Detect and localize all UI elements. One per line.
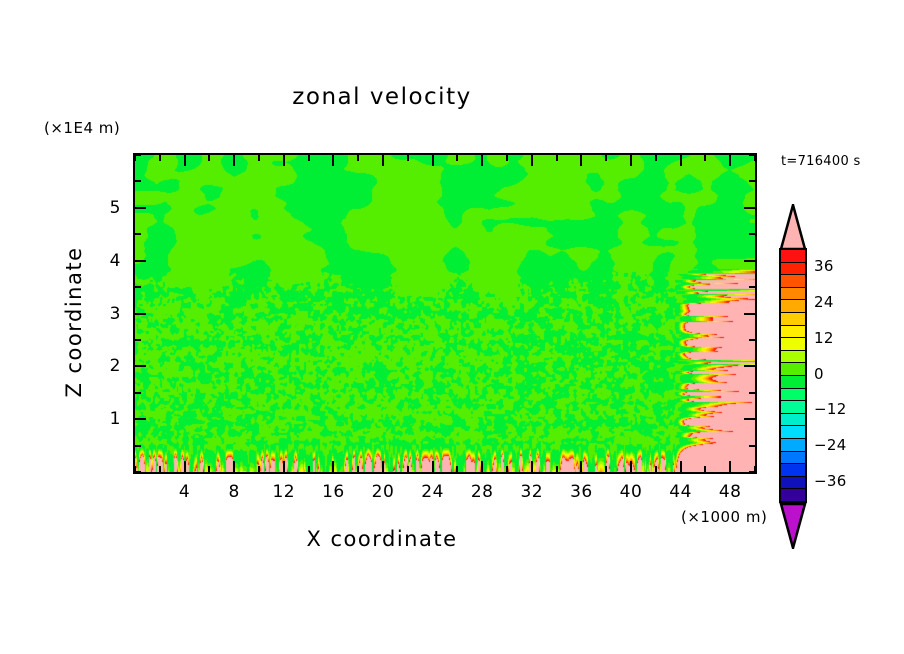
colorbar-band-4 bbox=[781, 300, 805, 313]
y-axis-minor-tick bbox=[135, 154, 141, 156]
y-axis-tick-label-2: 3 bbox=[91, 304, 121, 324]
x-axis-minor-tick bbox=[556, 466, 558, 472]
x-axis-major-tick bbox=[630, 155, 632, 166]
x-axis-minor-tick bbox=[159, 466, 161, 472]
x-axis-tick-label-3: 16 bbox=[313, 482, 353, 502]
x-axis-major-tick bbox=[283, 461, 285, 472]
x-axis-minor-tick bbox=[308, 466, 310, 472]
x-axis-major-tick bbox=[332, 461, 334, 472]
x-axis-major-tick bbox=[233, 461, 235, 472]
colorbar-band-11 bbox=[781, 389, 805, 402]
x-axis-major-tick bbox=[729, 461, 731, 472]
colorbar-label-6: −36 bbox=[814, 472, 847, 490]
colorbar-band-6 bbox=[781, 326, 805, 339]
x-axis-minor-tick bbox=[407, 466, 409, 472]
x-axis-minor-tick bbox=[258, 466, 260, 472]
y-axis-minor-tick bbox=[135, 392, 141, 394]
x-axis-major-tick bbox=[283, 155, 285, 166]
x-axis-major-tick bbox=[481, 155, 483, 166]
colorbar-band-15 bbox=[781, 439, 805, 452]
y-axis-major-tick bbox=[135, 365, 146, 367]
x-axis-tick-label-5: 24 bbox=[413, 482, 453, 502]
colorbar-band-9 bbox=[781, 363, 805, 376]
colorbar-band-7 bbox=[781, 338, 805, 351]
page-title: zonal velocity bbox=[0, 84, 764, 110]
velocity-field-canvas bbox=[135, 155, 755, 472]
x-axis-major-tick bbox=[432, 155, 434, 166]
y-axis-minor-tick bbox=[749, 154, 755, 156]
x-axis-major-tick bbox=[432, 461, 434, 472]
colorbar-band-13 bbox=[781, 414, 805, 427]
x-axis-major-tick bbox=[382, 155, 384, 166]
y-axis-major-tick bbox=[744, 207, 755, 209]
y-axis-minor-tick bbox=[749, 339, 755, 341]
colorbar-band-3 bbox=[781, 288, 805, 301]
x-axis-title: X coordinate bbox=[0, 527, 764, 551]
y-axis-major-tick bbox=[135, 260, 146, 262]
x-axis-major-tick bbox=[580, 155, 582, 166]
y-axis-minor-tick bbox=[135, 471, 141, 473]
x-axis-minor-tick bbox=[605, 155, 607, 161]
x-axis-tick-label-2: 12 bbox=[264, 482, 304, 502]
colorbar-label-0: 36 bbox=[814, 257, 834, 275]
colorbar-bands bbox=[779, 248, 807, 503]
y-axis-minor-tick bbox=[749, 233, 755, 235]
colorbar-band-2 bbox=[781, 275, 805, 288]
x-axis-tick-label-7: 32 bbox=[512, 482, 552, 502]
x-axis-major-tick bbox=[382, 461, 384, 472]
y-axis-minor-tick bbox=[135, 286, 141, 288]
colorbar-band-10 bbox=[781, 376, 805, 389]
x-axis-major-tick bbox=[184, 461, 186, 472]
y-axis-minor-tick bbox=[135, 180, 141, 182]
colorbar-band-16 bbox=[781, 452, 805, 465]
x-axis-tick-label-9: 40 bbox=[611, 482, 651, 502]
x-axis-minor-tick bbox=[258, 155, 260, 161]
x-axis-minor-tick bbox=[704, 155, 706, 161]
colorbar-band-12 bbox=[781, 401, 805, 414]
x-axis-major-tick bbox=[184, 155, 186, 166]
colorbar-band-1 bbox=[781, 263, 805, 276]
x-axis-major-tick bbox=[580, 461, 582, 472]
y-axis-minor-tick bbox=[135, 445, 141, 447]
y-axis-minor-tick bbox=[135, 339, 141, 341]
y-axis-minor-tick bbox=[749, 445, 755, 447]
x-axis-major-tick bbox=[630, 461, 632, 472]
colorbar-band-19 bbox=[781, 489, 805, 501]
x-axis-minor-tick bbox=[605, 466, 607, 472]
x-axis-tick-label-8: 36 bbox=[561, 482, 601, 502]
colorbar-band-8 bbox=[781, 351, 805, 364]
y-axis-title: Z coordinate bbox=[62, 242, 86, 402]
y-axis-minor-tick bbox=[749, 286, 755, 288]
colorbar-band-0 bbox=[781, 250, 805, 263]
x-axis-minor-tick bbox=[456, 155, 458, 161]
y-axis-major-tick bbox=[135, 207, 146, 209]
x-axis-tick-label-6: 28 bbox=[462, 482, 502, 502]
colorbar-band-14 bbox=[781, 426, 805, 439]
timestamp-annotation: t=716400 s bbox=[781, 154, 861, 169]
y-axis-minor-tick bbox=[749, 392, 755, 394]
x-axis-minor-tick bbox=[357, 466, 359, 472]
colorbar-label-5: −24 bbox=[814, 436, 847, 454]
x-axis-major-tick bbox=[680, 461, 682, 472]
x-axis-minor-tick bbox=[308, 155, 310, 161]
x-axis-minor-tick bbox=[506, 155, 508, 161]
x-axis-tick-label-1: 8 bbox=[214, 482, 254, 502]
x-axis-minor-tick bbox=[208, 466, 210, 472]
colorbar-under-arrow-icon bbox=[779, 503, 807, 553]
x-axis-tick-label-10: 44 bbox=[661, 482, 701, 502]
y-axis-major-tick bbox=[135, 313, 146, 315]
x-axis-minor-tick bbox=[506, 466, 508, 472]
y-axis-tick-label-3: 4 bbox=[91, 251, 121, 271]
x-axis-major-tick bbox=[481, 461, 483, 472]
x-axis-minor-tick bbox=[208, 155, 210, 161]
x-axis-minor-tick bbox=[159, 155, 161, 161]
x-axis-tick-label-11: 48 bbox=[710, 482, 750, 502]
y-axis-minor-tick bbox=[749, 180, 755, 182]
x-axis-minor-tick bbox=[357, 155, 359, 161]
x-axis-minor-tick bbox=[556, 155, 558, 161]
x-axis-major-tick bbox=[531, 155, 533, 166]
colorbar: 3624120−12−24−36 bbox=[770, 200, 830, 520]
x-axis-minor-tick bbox=[655, 466, 657, 472]
colorbar-label-3: 0 bbox=[814, 365, 824, 383]
colorbar-label-1: 24 bbox=[814, 293, 834, 311]
y-axis-tick-label-1: 2 bbox=[91, 356, 121, 376]
x-axis-major-tick bbox=[680, 155, 682, 166]
x-axis-unit-label: (×1000 m) bbox=[681, 508, 767, 526]
y-axis-major-tick bbox=[744, 313, 755, 315]
colorbar-band-5 bbox=[781, 313, 805, 326]
x-axis-major-tick bbox=[729, 155, 731, 166]
y-axis-major-tick bbox=[744, 365, 755, 367]
colorbar-over-arrow-icon bbox=[779, 204, 807, 254]
colorbar-label-2: 12 bbox=[814, 329, 834, 347]
y-axis-minor-tick bbox=[749, 471, 755, 473]
colorbar-label-4: −12 bbox=[814, 400, 847, 418]
x-axis-minor-tick bbox=[407, 155, 409, 161]
x-axis-tick-label-0: 4 bbox=[165, 482, 205, 502]
y-axis-major-tick bbox=[744, 418, 755, 420]
y-axis-tick-label-4: 5 bbox=[91, 198, 121, 218]
contour-plot-area bbox=[133, 153, 757, 474]
x-axis-minor-tick bbox=[456, 466, 458, 472]
colorbar-band-17 bbox=[781, 464, 805, 477]
colorbar-band-18 bbox=[781, 477, 805, 490]
x-axis-major-tick bbox=[332, 155, 334, 166]
y-axis-major-tick bbox=[744, 260, 755, 262]
x-axis-major-tick bbox=[233, 155, 235, 166]
x-axis-minor-tick bbox=[655, 155, 657, 161]
x-axis-major-tick bbox=[531, 461, 533, 472]
x-axis-tick-label-4: 20 bbox=[363, 482, 403, 502]
y-axis-unit-label: (×1E4 m) bbox=[44, 119, 120, 137]
y-axis-major-tick bbox=[135, 418, 146, 420]
x-axis-minor-tick bbox=[704, 466, 706, 472]
y-axis-minor-tick bbox=[135, 233, 141, 235]
y-axis-tick-label-0: 1 bbox=[91, 409, 121, 429]
